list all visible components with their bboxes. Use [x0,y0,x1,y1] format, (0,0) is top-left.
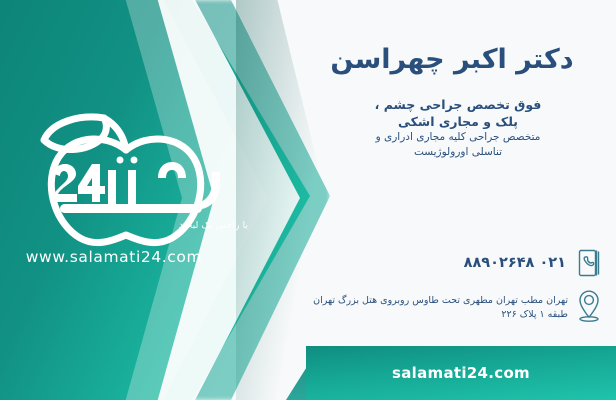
business-card: با راحتی یک لبخند www.salamati24.com دکت… [0,0,616,400]
logo-tagline: با راحتی یک لبخند [179,220,248,231]
address-row[interactable]: تهران مطب تهران مطهری تحت طاوس روبروی هت… [302,288,602,323]
phone-row[interactable]: ۸۸۹۰۲۶۴۸ ۰۲۱ [306,248,602,278]
address-line: تهران مطب تهران مطهری تحت طاوس روبروی هت… [313,295,568,306]
footer-website[interactable]: salamati24.com [392,364,530,382]
footer-bar[interactable]: salamati24.com [306,346,616,400]
doctor-name: دکتر اکبر چهراسن [302,44,602,75]
phone-number[interactable]: ۸۸۹۰۲۶۴۸ ۰۲۱ [464,255,566,271]
phone-book-icon [576,248,602,278]
logo-url[interactable]: www.salamati24.com [14,248,214,266]
specialty-line: متخصص جراحی کلیه مجاری ادراری و [310,130,606,145]
specialty-line: فوق تخصص جراحی چشم ، [310,96,606,113]
address-text: تهران مطب تهران مطهری تحت طاوس روبروی هت… [302,288,568,322]
card-content: دکتر اکبر چهراسن فوق تخصص جراحی چشم ، پل… [286,0,616,400]
map-pin-icon [576,289,602,323]
address-line: طبقه ۱ پلاک ۲۲۶ [302,308,568,322]
specialty-line: تناسلی اورولوژیست [310,145,606,160]
specialty-list: فوق تخصص جراحی چشم ، پلک و مجاری اشکی مت… [310,96,606,160]
brand-logo: با راحتی یک لبخند www.salamati24.com [8,108,260,278]
specialty-line: پلک و مجاری اشکی [310,113,606,130]
